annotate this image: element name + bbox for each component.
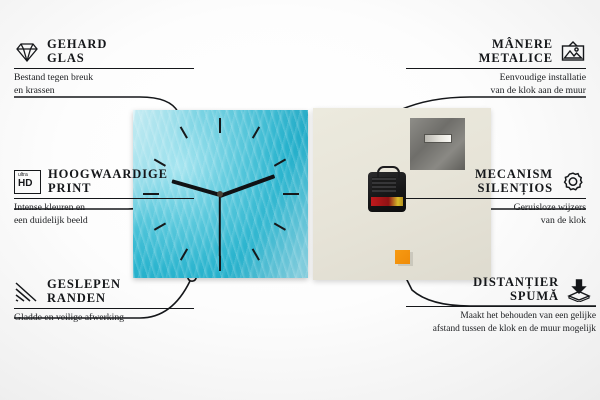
feature-distantier-spuma: DISTANȚIER SPUMĂ Maakt het behouden van … — [406, 276, 596, 335]
feature-title: DISTANȚIER SPUMĂ — [473, 276, 559, 303]
desc-line-1: Geruisloze wijzers — [406, 202, 586, 215]
title-line-2: PRINT — [48, 182, 168, 196]
desc-line-2: een duidelijk beeld — [14, 215, 194, 228]
feature-title: HOOGWAARDIGE PRINT — [48, 168, 168, 195]
clock-minute-hand — [219, 174, 275, 197]
title-line-1: HOOGWAARDIGE — [48, 168, 168, 182]
feature-geslepen-randen: GESLEPEN RANDEN Gladde en veilige afwerk… — [14, 278, 194, 325]
divider — [14, 68, 194, 69]
clock-tick — [219, 118, 221, 133]
title-line-2: RANDEN — [47, 292, 121, 306]
desc-line-1: Maakt het behouden van een gelijke — [406, 310, 596, 323]
clock-tick — [252, 126, 260, 138]
desc-line-1: Gladde en veilige afwerking — [14, 312, 194, 325]
spacer-arrow-icon — [566, 278, 592, 302]
clock-tick — [154, 158, 166, 166]
title-line-2: GLAS — [47, 52, 107, 66]
clock-tick — [252, 248, 260, 260]
clock-tick — [180, 248, 188, 260]
clock-center-cap — [217, 191, 223, 197]
title-line-1: GESLEPEN — [47, 278, 121, 292]
desc-line-2: en krassen — [14, 85, 194, 98]
picture-frame-icon — [560, 40, 586, 64]
title-line-2: METALICE — [479, 52, 553, 66]
title-line-2: SILENȚIOS — [475, 182, 553, 196]
feature-title: GESLEPEN RANDEN — [47, 278, 121, 305]
divider — [14, 198, 194, 199]
desc-line-2: van de klok aan de muur — [406, 85, 586, 98]
metal-hanger-plate — [410, 118, 465, 170]
clock-second-hand — [219, 195, 221, 257]
desc-line-2: van de klok — [406, 215, 586, 228]
desc-line-1: Intense kleuren en — [14, 202, 194, 215]
battery — [371, 197, 403, 206]
ultra-hd-icon: ultra HD — [14, 170, 41, 194]
hanger-slot — [424, 134, 452, 143]
title-line-2: SPUMĂ — [473, 290, 559, 304]
feature-title: MÂNERE METALICE — [479, 38, 553, 65]
feature-hoogwaardige-print: ultra HD HOOGWAARDIGE PRINT Intense kleu… — [14, 168, 194, 228]
desc-line-2: afstand tussen de klok en de muur mogeli… — [406, 323, 596, 336]
title-line-1: MECANISM — [475, 168, 553, 182]
clock-tick — [219, 256, 221, 271]
ultra-hd-big-text: HD — [18, 178, 32, 189]
divider — [406, 198, 586, 199]
clock-tick — [283, 193, 299, 195]
clock-tick — [274, 222, 286, 230]
beveled-edges-icon — [14, 280, 40, 304]
feature-manere-metalice: MÂNERE METALICE Eenvoudige installatie v… — [406, 38, 586, 98]
title-line-1: GEHARD — [47, 38, 107, 52]
title-line-1: DISTANȚIER — [473, 276, 559, 290]
divider — [14, 308, 194, 309]
mechanism-body-detail — [372, 177, 396, 192]
diamond-icon — [14, 40, 40, 64]
feature-gehard-glas: GEHARD GLAS Bestand tegen breuk en krass… — [14, 38, 194, 98]
clock-tick — [274, 158, 286, 166]
clock-mechanism — [368, 172, 406, 212]
divider — [406, 306, 596, 307]
divider — [406, 68, 586, 69]
desc-line-1: Bestand tegen breuk — [14, 72, 194, 85]
feature-title: MECANISM SILENȚIOS — [475, 168, 553, 195]
clock-tick — [180, 126, 188, 138]
foam-spacer — [395, 250, 410, 264]
feature-title: GEHARD GLAS — [47, 38, 107, 65]
desc-line-1: Eenvoudige installatie — [406, 72, 586, 85]
feature-mecanism-silentios: MECANISM SILENȚIOS Geruisloze wijzers va… — [406, 168, 586, 228]
gear-icon — [560, 170, 586, 194]
title-line-1: MÂNERE — [479, 38, 553, 52]
infographic-canvas: GEHARD GLAS Bestand tegen breuk en krass… — [0, 0, 600, 400]
